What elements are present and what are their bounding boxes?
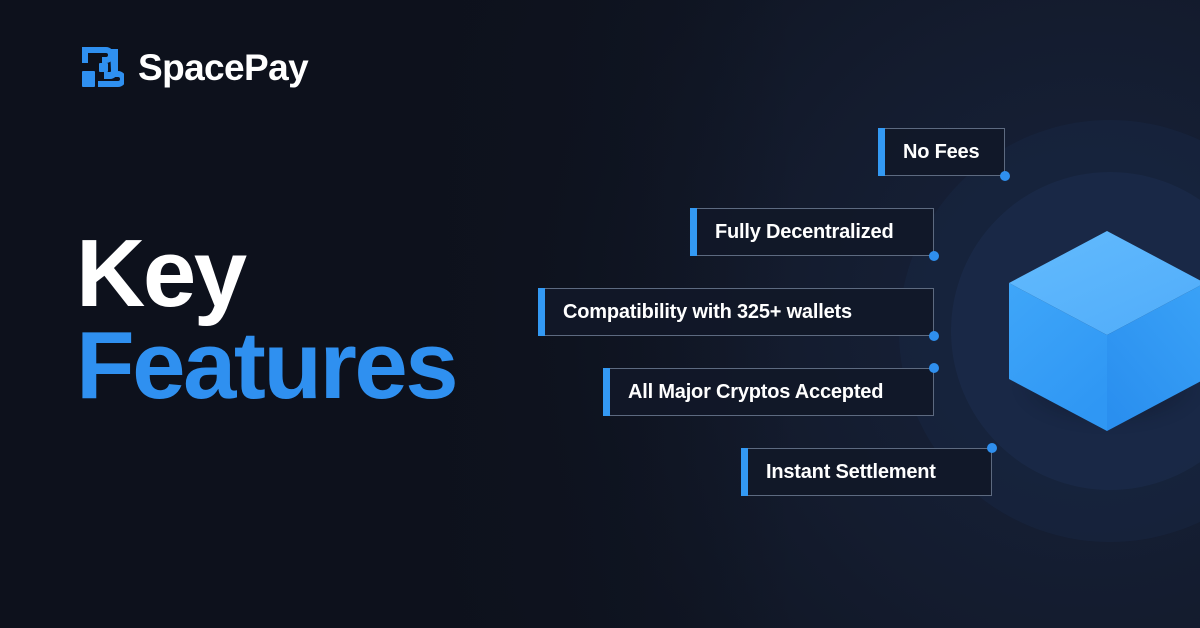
feature-chip-label: Instant Settlement bbox=[766, 462, 936, 482]
feature-chip[interactable]: Compatibility with 325+ wallets bbox=[538, 288, 934, 336]
feature-chip-connector-dot bbox=[929, 363, 939, 373]
feature-chip-connector-dot bbox=[929, 251, 939, 261]
feature-chip-accent-bar bbox=[538, 288, 545, 336]
page-title-line1: Key bbox=[76, 228, 456, 320]
feature-chip[interactable]: No Fees bbox=[878, 128, 1005, 176]
feature-chip-accent-bar bbox=[878, 128, 885, 176]
spacepay-logo-icon bbox=[80, 44, 124, 90]
key-features-banner: SpacePay Key Features No Fees Fully Dece… bbox=[0, 0, 1200, 628]
feature-chip[interactable]: All Major Cryptos Accepted bbox=[603, 368, 934, 416]
isometric-cube-icon bbox=[1004, 228, 1200, 434]
feature-chip-connector-dot bbox=[929, 331, 939, 341]
feature-chip[interactable]: Fully Decentralized bbox=[690, 208, 934, 256]
feature-chip-body: Compatibility with 325+ wallets bbox=[545, 288, 934, 336]
feature-chip-label: No Fees bbox=[903, 142, 979, 162]
page-title-line2: Features bbox=[76, 320, 456, 412]
feature-chip-connector-dot bbox=[987, 443, 997, 453]
feature-chip-accent-bar bbox=[690, 208, 697, 256]
feature-chip-label: Fully Decentralized bbox=[715, 222, 893, 242]
feature-chip-body: Instant Settlement bbox=[748, 448, 992, 496]
feature-chip[interactable]: Instant Settlement bbox=[741, 448, 992, 496]
brand-logo[interactable]: SpacePay bbox=[80, 44, 308, 90]
feature-chip-label: All Major Cryptos Accepted bbox=[628, 382, 883, 402]
isometric-cube-graphic bbox=[1004, 228, 1200, 434]
feature-chip-accent-bar bbox=[603, 368, 610, 416]
feature-chip-body: Fully Decentralized bbox=[697, 208, 934, 256]
feature-chip-accent-bar bbox=[741, 448, 748, 496]
feature-chip-label: Compatibility with 325+ wallets bbox=[563, 302, 852, 322]
page-title: Key Features bbox=[76, 228, 456, 412]
brand-name: SpacePay bbox=[138, 49, 308, 86]
feature-chip-connector-dot bbox=[1000, 171, 1010, 181]
feature-chip-body: No Fees bbox=[885, 128, 1005, 176]
feature-chip-body: All Major Cryptos Accepted bbox=[610, 368, 934, 416]
